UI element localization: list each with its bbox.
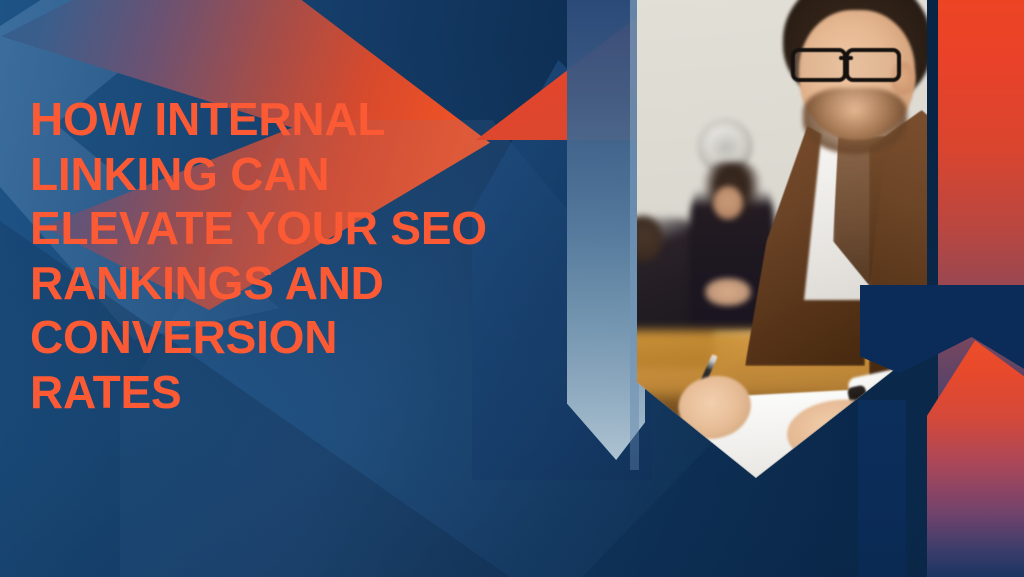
photo-subject-glasses bbox=[787, 46, 909, 76]
photo-wall-clock-inner bbox=[711, 132, 739, 160]
headline-line-2: LINKING CAN bbox=[30, 147, 630, 202]
headline-line-6: RATES bbox=[30, 365, 630, 420]
photo-subject-glasses-bridge bbox=[839, 56, 853, 60]
featured-image-banner: HOW INTERNAL LINKING CAN ELEVATE YOUR SE… bbox=[0, 0, 1024, 577]
photo-subject-beard bbox=[803, 88, 907, 154]
headline-line-4: RANKINGS AND bbox=[30, 256, 630, 311]
headline-line-1: HOW INTERNAL bbox=[30, 92, 630, 147]
photo-background-woman-hands bbox=[705, 278, 751, 306]
bottom-right-navy-column-shape bbox=[858, 400, 906, 577]
headline-line-3: ELEVATE YOUR SEO bbox=[30, 201, 630, 256]
photo-background-woman-face bbox=[713, 186, 743, 220]
headline-line-5: CONVERSION bbox=[30, 310, 630, 365]
headline: HOW INTERNAL LINKING CAN ELEVATE YOUR SE… bbox=[30, 92, 630, 419]
